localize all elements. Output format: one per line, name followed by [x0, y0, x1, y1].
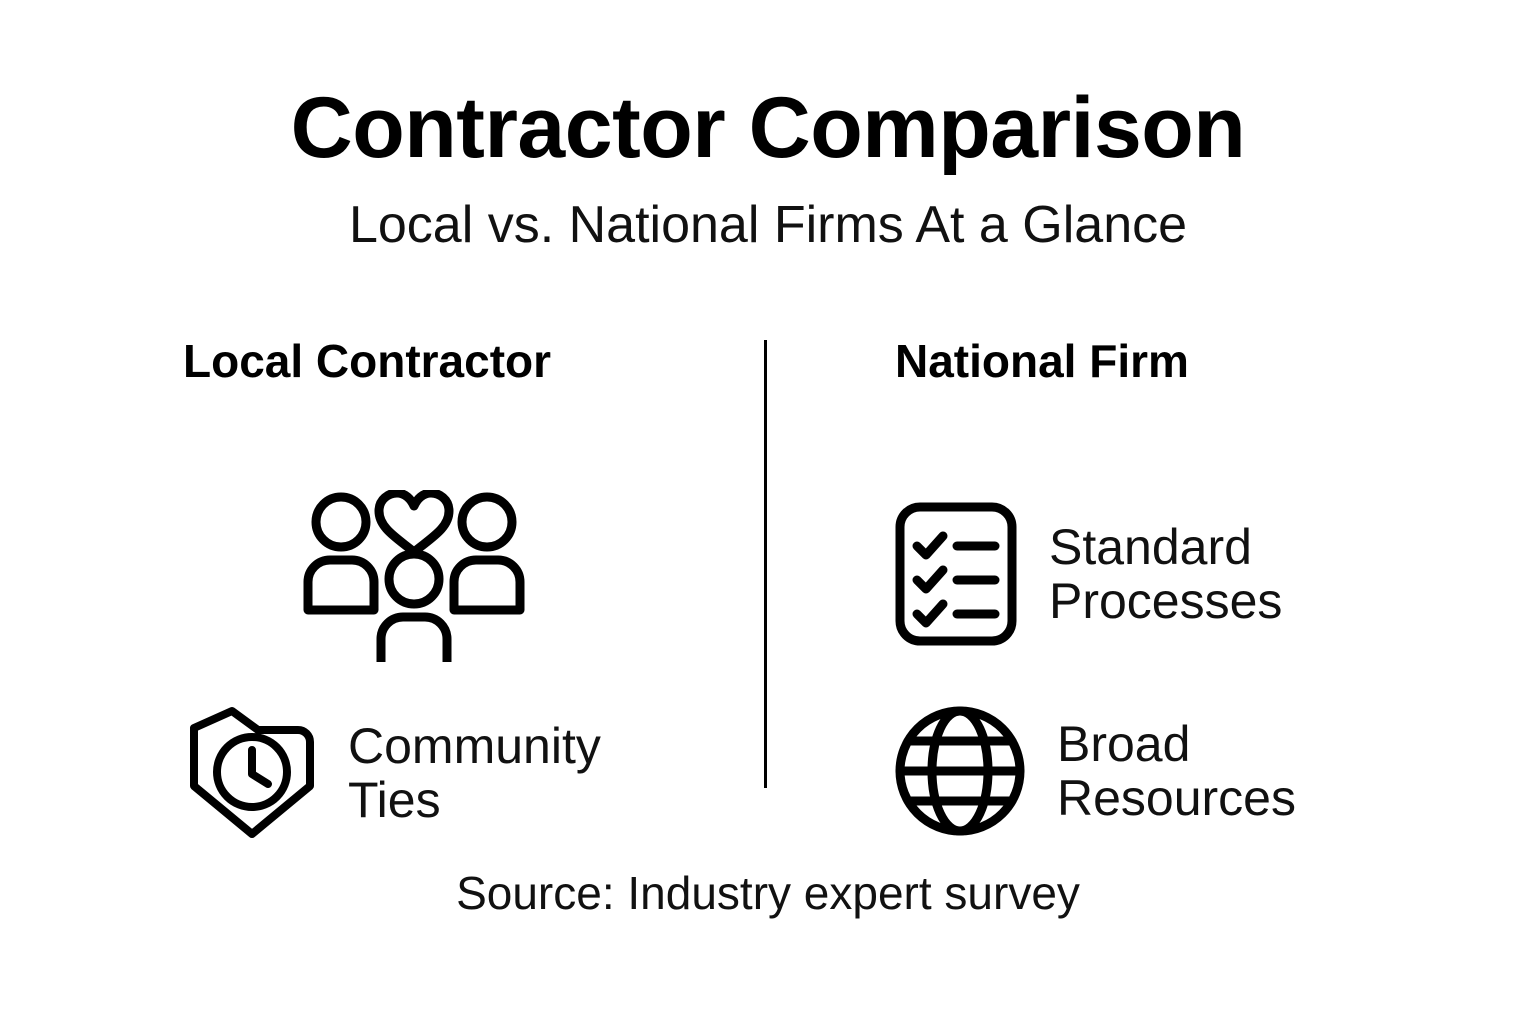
globe-icon: [895, 704, 1025, 838]
shield-clock-icon: [188, 706, 316, 840]
checklist-icon: [895, 502, 1017, 646]
feature-row: Broad Resources: [895, 704, 1296, 838]
people-heart-icon: [301, 490, 527, 662]
feature-label-line: Standard: [1049, 520, 1282, 574]
feature-row: Community Ties: [188, 706, 601, 840]
column-heading-local: Local Contractor: [183, 336, 783, 394]
column-national-firm: National Firm: [895, 336, 1495, 394]
comparison-columns: Local Contractor: [0, 336, 1536, 788]
feature-label-line: Resources: [1057, 771, 1296, 825]
source-note: Source: Industry expert survey: [0, 866, 1536, 920]
feature-label: Community Ties: [348, 719, 601, 827]
feature-label-line: Broad: [1057, 717, 1296, 771]
column-divider: [764, 340, 767, 788]
feature-label: Broad Resources: [1057, 717, 1296, 825]
feature-label-line: Ties: [348, 773, 601, 827]
infographic-canvas: Contractor Comparison Local vs. National…: [0, 0, 1536, 1024]
page-title: Contractor Comparison: [0, 82, 1536, 175]
feature-label-line: Community: [348, 719, 601, 773]
page-subtitle: Local vs. National Firms At a Glance: [0, 197, 1536, 254]
feature-label-line: Processes: [1049, 574, 1282, 628]
feature-row: [301, 490, 559, 662]
column-local-contractor: Local Contractor: [183, 336, 783, 394]
feature-label: Standard Processes: [1049, 520, 1282, 628]
feature-row: Standard Processes: [895, 502, 1282, 646]
column-heading-national: National Firm: [895, 336, 1495, 394]
